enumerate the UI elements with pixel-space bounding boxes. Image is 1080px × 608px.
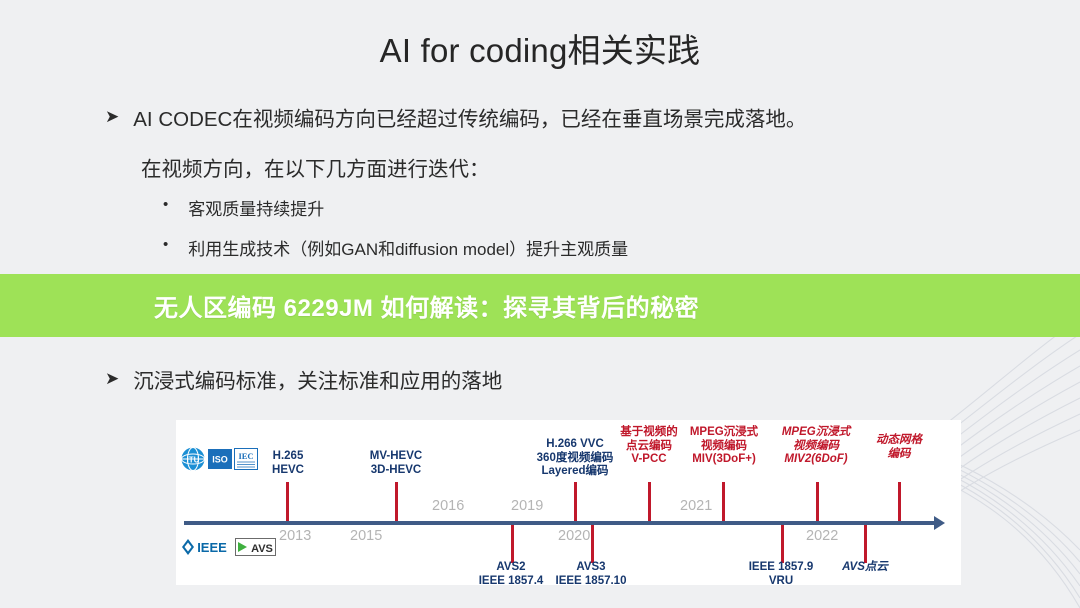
timeline-label-miv2-6dof: MPEG沉浸式 视频编码 MIV2(6DoF) [768,426,864,467]
tick-above-4 [648,482,651,521]
timeline-label-line: MIV2(6DoF) [768,453,864,467]
svg-text:ISO: ISO [212,455,228,465]
bullet-level1-1: ➤ AI CODEC在视频编码方向已经超过传统编码，已经在垂直场景完成落地。 [105,106,965,134]
sub-bullet-2: • 利用生成技术（例如GAN和diffusion model）提升主观质量 [163,235,628,260]
year-above-2016: 2016 [432,498,464,514]
timeline-label-line: IEEE 1857.10 [526,575,656,589]
timeline-label-line: AVS3 [526,561,656,575]
timeline-label-line: 动态网格 [862,434,936,448]
presentation-slide: AI for coding相关实践 ➤ AI CODEC在视频编码方向已经超过传… [0,0,1080,608]
timeline-label-line: H.265 [246,450,330,464]
timeline-label-line: VRU [721,575,841,589]
svg-text:ITU: ITU [187,456,200,465]
year-above-2021: 2021 [680,498,712,514]
timeline-label-line: HEVC [246,464,330,478]
timeline-label-line: MPEG沉浸式 [768,426,864,440]
sub-bullet-1: • 客观质量持续提升 [163,195,324,220]
timeline-label-avs3: AVS3 IEEE 1857.10 [526,561,656,588]
bullet-level1-2: ➤ 沉浸式编码标准，关注标准和应用的落地 [105,368,805,396]
timeline-arrow-icon [934,516,945,530]
tick-above-1 [286,482,289,521]
timeline-label-h265: H.265 HEVC [246,450,330,477]
timeline-label-line: MPEG沉浸式 [676,426,772,440]
tick-below-4 [864,525,867,563]
sub-bullet-2-text: 利用生成技术（例如GAN和diffusion model）提升主观质量 [188,235,628,260]
tick-below-1 [511,525,514,563]
year-below-2013: 2013 [279,528,311,544]
arrow-bullet-icon: ➤ [105,106,119,129]
ieee-avs-logo: IEEE AVS [180,537,277,557]
tick-above-2 [395,482,398,521]
tick-below-3 [781,525,784,563]
timeline-label-line: 编码 [862,448,936,462]
standards-timeline: ITU ISO IEC IEEE [176,420,961,585]
ieee-logo-icon: IEEE [180,537,232,557]
bullet-level1-2-text: 沉浸式编码标准，关注标准和应用的落地 [133,368,502,396]
year-below-2020: 2020 [558,528,590,544]
timeline-label-dynamic-mesh: 动态网格 编码 [862,434,936,461]
dot-bullet-icon: • [163,195,168,215]
timeline-label-line: Layered编码 [512,465,638,479]
tick-above-7 [898,482,901,521]
svg-text:AVS: AVS [251,543,273,555]
year-below-2015: 2015 [350,528,382,544]
tick-above-5 [722,482,725,521]
timeline-label-line: 3D-HEVC [341,464,451,478]
timeline-label-line: 视频编码 [768,440,864,454]
arrow-bullet-icon: ➤ [105,368,119,391]
iso-logo-icon: ISO [208,449,232,469]
timeline-label-avs-pointcloud: AVS点云 [819,561,911,575]
sub-bullet-1-text: 客观质量持续提升 [188,195,324,220]
tick-above-6 [816,482,819,521]
timeline-label-line: 视频编码 [676,440,772,454]
page-title: AI for coding相关实践 [0,24,1080,72]
overlay-banner: 无人区编码 6229JM 如何解读：探寻其背后的秘密 [0,274,1080,337]
dot-bullet-icon: • [163,235,168,255]
bullet-level1-1-text: AI CODEC在视频编码方向已经超过传统编码，已经在垂直场景完成落地。 [133,106,806,134]
tick-above-3 [574,482,577,521]
bullet-level1-1-continuation: 在视频方向，在以下几方面进行迭代： [141,152,490,182]
timeline-label-line: MV-HEVC [341,450,451,464]
overlay-banner-text: 无人区编码 6229JM 如何解读：探寻其背后的秘密 [154,288,699,323]
avs-logo-icon: AVS [235,537,277,557]
tick-below-2 [591,525,594,563]
itu-logo-icon: ITU [180,446,206,472]
timeline-axis [184,521,936,525]
timeline-label-line: MIV(3DoF+) [676,453,772,467]
year-above-2019: 2019 [511,498,543,514]
year-below-2022: 2022 [806,528,838,544]
timeline-label-miv3dof: MPEG沉浸式 视频编码 MIV(3DoF+) [676,426,772,467]
svg-text:IEEE: IEEE [197,540,227,555]
timeline-label-mvhevc: MV-HEVC 3D-HEVC [341,450,451,477]
timeline-label-line: AVS点云 [819,561,911,575]
